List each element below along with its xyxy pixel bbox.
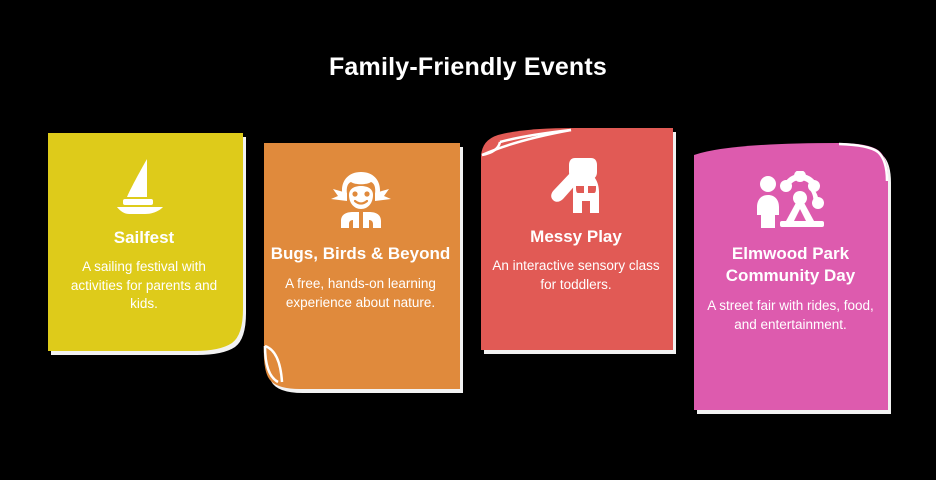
infographic-root: Family-Friendly Events Sailfest A sailin… <box>0 0 936 480</box>
card-content-elmwood-park: Elmwood Park Community Day A street fair… <box>689 139 892 410</box>
event-card-sailfest[interactable]: Sailfest A sailing festival with activit… <box>44 129 244 351</box>
event-card-bugs-birds[interactable]: Bugs, Birds & Beyond A free, hands-on le… <box>260 139 461 389</box>
card-title-elmwood-park: Elmwood Park Community Day <box>689 243 892 287</box>
card-content-sailfest: Sailfest A sailing festival with activit… <box>44 129 244 351</box>
card-description-bugs-birds: A free, hands-on learning experience abo… <box>260 275 461 312</box>
card-content-messy-play: Messy Play An interactive sensory class … <box>476 126 676 350</box>
card-description-elmwood-park: A street fair with rides, food, and ente… <box>689 297 892 334</box>
event-card-elmwood-park[interactable]: Elmwood Park Community Day A street fair… <box>689 139 892 410</box>
paint-roller-icon <box>545 156 607 214</box>
ferris-wheel-icon <box>752 171 830 229</box>
sailboat-icon <box>113 157 175 215</box>
card-title-bugs-birds: Bugs, Birds & Beyond <box>261 243 460 265</box>
card-description-sailfest: A sailing festival with activities for p… <box>44 258 244 314</box>
event-card-messy-play[interactable]: Messy Play An interactive sensory class … <box>476 126 676 350</box>
card-content-bugs-birds: Bugs, Birds & Beyond A free, hands-on le… <box>260 139 461 389</box>
card-description-messy-play: An interactive sensory class for toddler… <box>476 257 676 294</box>
page-title: Family-Friendly Events <box>0 50 936 84</box>
child-with-pigtails-icon <box>329 171 393 229</box>
card-title-sailfest: Sailfest <box>104 227 184 249</box>
card-title-messy-play: Messy Play <box>520 226 632 248</box>
